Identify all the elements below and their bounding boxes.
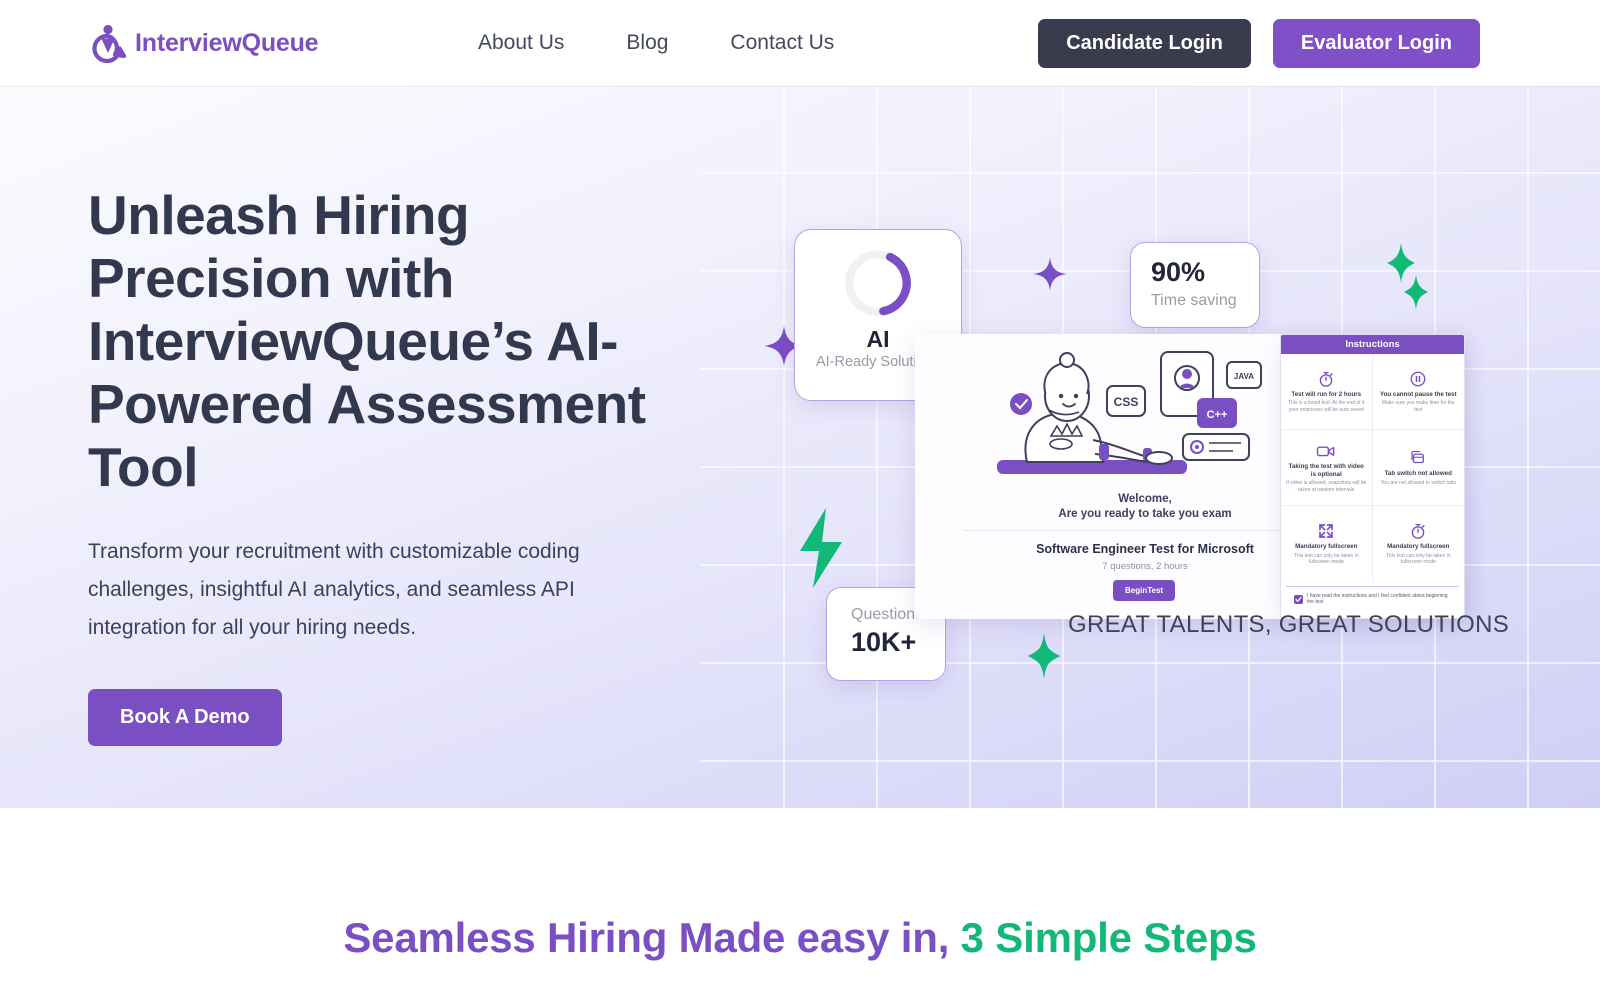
auth-buttons: Candidate Login Evaluator Login xyxy=(1038,19,1480,68)
main-nav: About Us Blog Contact Us xyxy=(478,25,834,61)
evaluator-login-button[interactable]: Evaluator Login xyxy=(1273,19,1480,68)
instructions-grid: Test will run for 2 hours This is a time… xyxy=(1281,354,1464,582)
instruction-desc: If video is allowed, snapshots will be t… xyxy=(1286,480,1367,493)
exam-test-name: Software Engineer Test for Microsoft xyxy=(970,542,1320,556)
instruction-title: Mandatory fullscreen xyxy=(1387,543,1449,551)
hero-visual: AI AI-Ready Solutions 90% Time saving Qu… xyxy=(700,86,1600,808)
svg-text:C++: C++ xyxy=(1207,409,1228,421)
lightning-bolt-icon xyxy=(795,506,847,590)
interviewqueue-logo-icon xyxy=(88,23,126,63)
video-camera-icon xyxy=(1316,442,1336,460)
hero-subtitle: Transform your recruitment with customiz… xyxy=(88,533,678,647)
instruction-item: Mandatory fullscreen This test can only … xyxy=(1373,506,1465,582)
instruction-desc: Make sure you make time for the test xyxy=(1378,400,1460,413)
instruction-item: Tab switch not allowed You are not allow… xyxy=(1373,430,1465,506)
consent-checkbox[interactable] xyxy=(1294,595,1303,604)
exam-welcome-line1: Welcome, xyxy=(970,492,1320,507)
exam-welcome-line2: Are you ready to take you exam xyxy=(970,507,1320,522)
stat-label-time-saving: Time saving xyxy=(1151,292,1259,310)
checkmark-icon xyxy=(1295,596,1302,603)
site-header: InterviewQueue About Us Blog Contact Us … xyxy=(0,0,1600,86)
ai-card-label: AI xyxy=(867,326,890,353)
pause-icon xyxy=(1409,370,1427,388)
instruction-item: Mandatory fullscreen This test can only … xyxy=(1281,506,1373,582)
nav-item-blog[interactable]: Blog xyxy=(626,25,668,61)
svg-text:CSS: CSS xyxy=(1114,395,1139,409)
steps-title: Seamless Hiring Made easy in, 3 Simple S… xyxy=(0,914,1600,962)
instructions-panel: Instructions Test will run for 2 hours T… xyxy=(1280,334,1465,619)
instruction-item: You cannot pause the test Make sure you … xyxy=(1373,354,1465,430)
instruction-desc: You are not allowed to switch tabs xyxy=(1381,480,1456,486)
stat-value-questions: 10K+ xyxy=(851,627,945,658)
landing-page: InterviewQueue About Us Blog Contact Us … xyxy=(0,0,1600,1000)
green-sparkle-small-icon xyxy=(1402,272,1430,312)
instruction-item: Taking the test with video is optional I… xyxy=(1281,430,1373,506)
stopwatch-icon xyxy=(1317,370,1335,388)
nav-item-contact-us[interactable]: Contact Us xyxy=(730,25,834,61)
brand-name: InterviewQueue xyxy=(135,29,318,58)
consent-label: I have read the instructions and I feel … xyxy=(1307,593,1453,605)
nav-item-about-us[interactable]: About Us xyxy=(478,25,564,61)
instructions-consent-row: I have read the instructions and I feel … xyxy=(1286,586,1459,605)
tab-switch-icon xyxy=(1409,449,1427,467)
green-star-icon xyxy=(1022,632,1066,680)
instruction-title: Taking the test with video is optional xyxy=(1286,463,1367,478)
ai-progress-ring-icon xyxy=(841,246,915,320)
exam-illustration: CSS JAVA C++ xyxy=(975,344,1315,484)
steps-section: Seamless Hiring Made easy in, 3 Simple S… xyxy=(0,808,1600,1000)
exam-test-meta: 7 questions, 2 hours xyxy=(970,561,1320,572)
hero-title: Unleash Hiring Precision with InterviewQ… xyxy=(88,184,688,499)
instruction-title: Test will run for 2 hours xyxy=(1291,391,1361,399)
instruction-title: Mandatory fullscreen xyxy=(1295,543,1357,551)
instruction-title: Tab switch not allowed xyxy=(1385,470,1452,478)
hero-tagline: GREAT TALENTS, GREAT SOLUTIONS xyxy=(1068,611,1509,639)
hero-section: Unleash Hiring Precision with InterviewQ… xyxy=(0,86,1600,808)
instructions-heading: Instructions xyxy=(1281,335,1464,354)
steps-title-green: 3 Simple Steps xyxy=(961,914,1257,961)
svg-text:JAVA: JAVA xyxy=(1234,372,1254,381)
stat-card-time-saving: 90% Time saving xyxy=(1130,242,1260,328)
steps-title-purple: Seamless Hiring Made easy in, xyxy=(343,914,949,961)
instruction-desc: This is a timed test. At the end of it y… xyxy=(1286,400,1367,413)
purple-sparkle-small-icon xyxy=(1032,256,1068,292)
begin-test-button[interactable]: BeginTest xyxy=(1113,580,1175,601)
instruction-item: Test will run for 2 hours This is a time… xyxy=(1281,354,1373,430)
fullscreen-icon xyxy=(1317,522,1335,540)
exam-divider xyxy=(963,530,1327,531)
instruction-desc: This test can only be taken in fullscree… xyxy=(1286,553,1367,566)
book-a-demo-button[interactable]: Book A Demo xyxy=(88,689,282,746)
instruction-title: You cannot pause the test xyxy=(1380,391,1457,399)
brand-logo[interactable]: InterviewQueue xyxy=(88,23,318,63)
stat-value-time-saving: 90% xyxy=(1151,257,1259,288)
hero-copy: Unleash Hiring Precision with InterviewQ… xyxy=(88,184,688,746)
exam-welcome-text: Welcome, Are you ready to take you exam xyxy=(970,492,1320,522)
stopwatch-icon xyxy=(1409,522,1427,540)
candidate-login-button[interactable]: Candidate Login xyxy=(1038,19,1251,68)
instruction-desc: This test can only be taken in fullscree… xyxy=(1378,553,1460,566)
